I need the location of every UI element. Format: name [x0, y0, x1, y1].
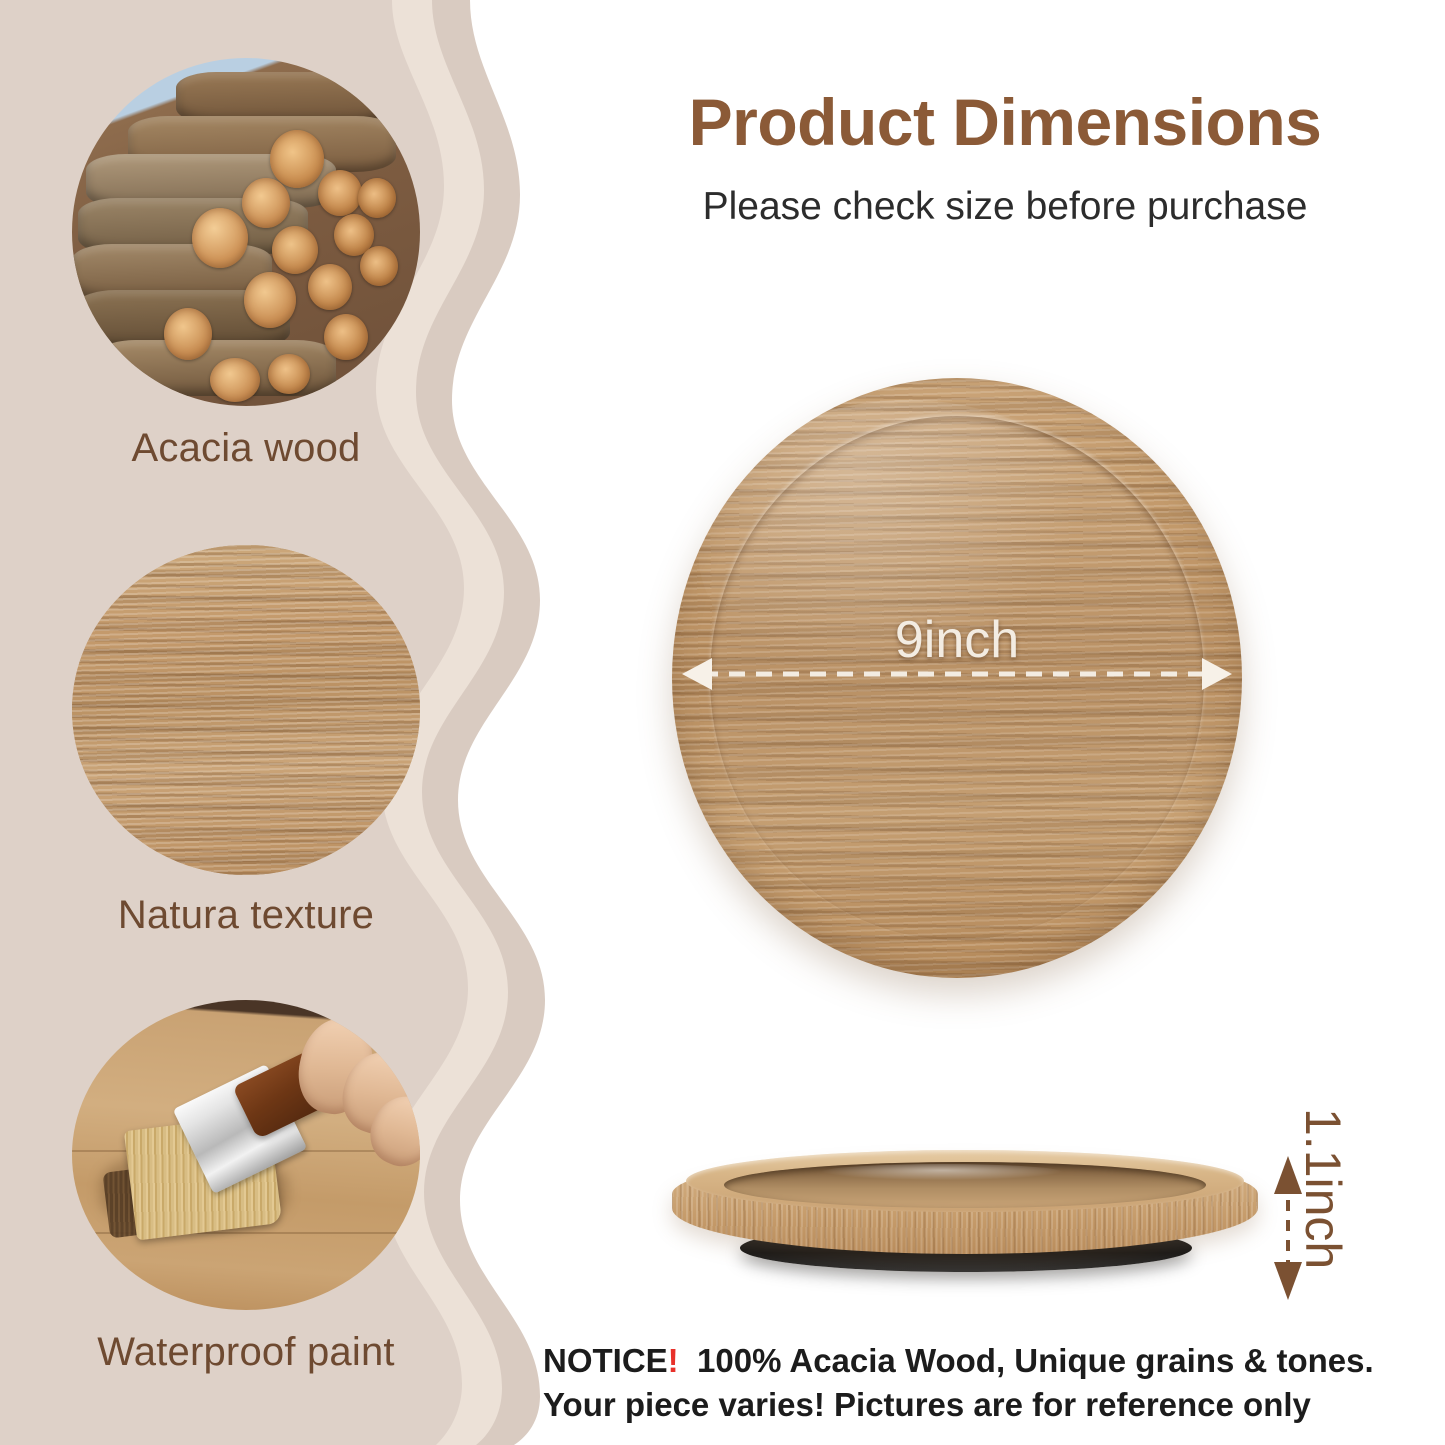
- feature-label-acacia-wood: Acacia wood: [72, 426, 420, 471]
- infographic-canvas: Acacia wood Natura texture Waterproof pa…: [0, 0, 1445, 1445]
- feature-waterproof-paint: Waterproof paint: [72, 1000, 420, 1412]
- notice-line-1: NOTICE! 100% Acacia Wood, Unique grains …: [543, 1339, 1413, 1383]
- feature-label-natura-texture: Natura texture: [72, 893, 420, 938]
- feature-acacia-wood: Acacia wood: [72, 58, 420, 470]
- tray-side-well-highlight: [822, 1164, 1062, 1180]
- page-subtitle: Please check size before purchase: [600, 185, 1410, 229]
- diameter-label: 9inch: [672, 610, 1242, 670]
- height-label: 1.1inch: [1294, 1108, 1352, 1269]
- feature-natura-texture: Natura texture: [72, 545, 420, 957]
- notice-text-1: 100% Acacia Wood, Unique grains & tones.: [697, 1342, 1374, 1379]
- tray-top-view: 9inch: [672, 378, 1242, 978]
- notice-prefix: NOTICE: [543, 1342, 668, 1379]
- tray-side-view: [672, 1148, 1258, 1278]
- wood-grain-photo-icon: [72, 545, 420, 875]
- page-title: Product Dimensions: [600, 88, 1410, 157]
- feature-label-waterproof-paint: Waterproof paint: [72, 1330, 420, 1375]
- notice-exclamation-icon: !: [668, 1342, 679, 1379]
- notice-line-2: Your piece varies! Pictures are for refe…: [543, 1383, 1413, 1427]
- logs-photo-icon: [72, 58, 420, 406]
- notice-block: NOTICE! 100% Acacia Wood, Unique grains …: [543, 1339, 1413, 1427]
- paintbrush-photo-icon: [72, 1000, 420, 1310]
